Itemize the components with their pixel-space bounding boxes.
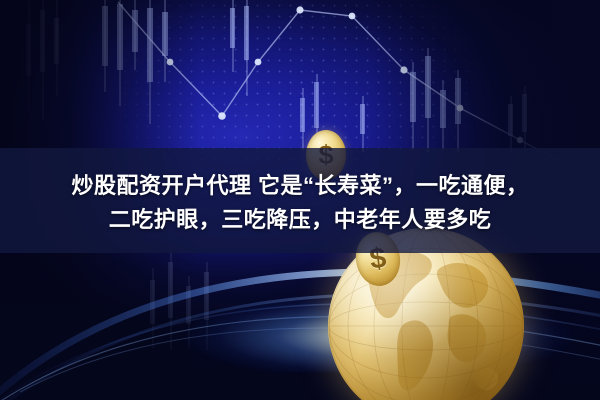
headline-line-2: 二吃护眼，三吃降压，中老年人要多吃: [109, 202, 492, 234]
banner-image: $ $: [0, 0, 600, 400]
headline-text: 炒股配资开户代理 它是“长寿菜”，一吃通便， 二吃护眼，三吃降压，中老年人要多吃: [0, 148, 600, 253]
headline-line-1: 炒股配资开户代理 它是“长寿菜”，一吃通便，: [71, 168, 528, 200]
